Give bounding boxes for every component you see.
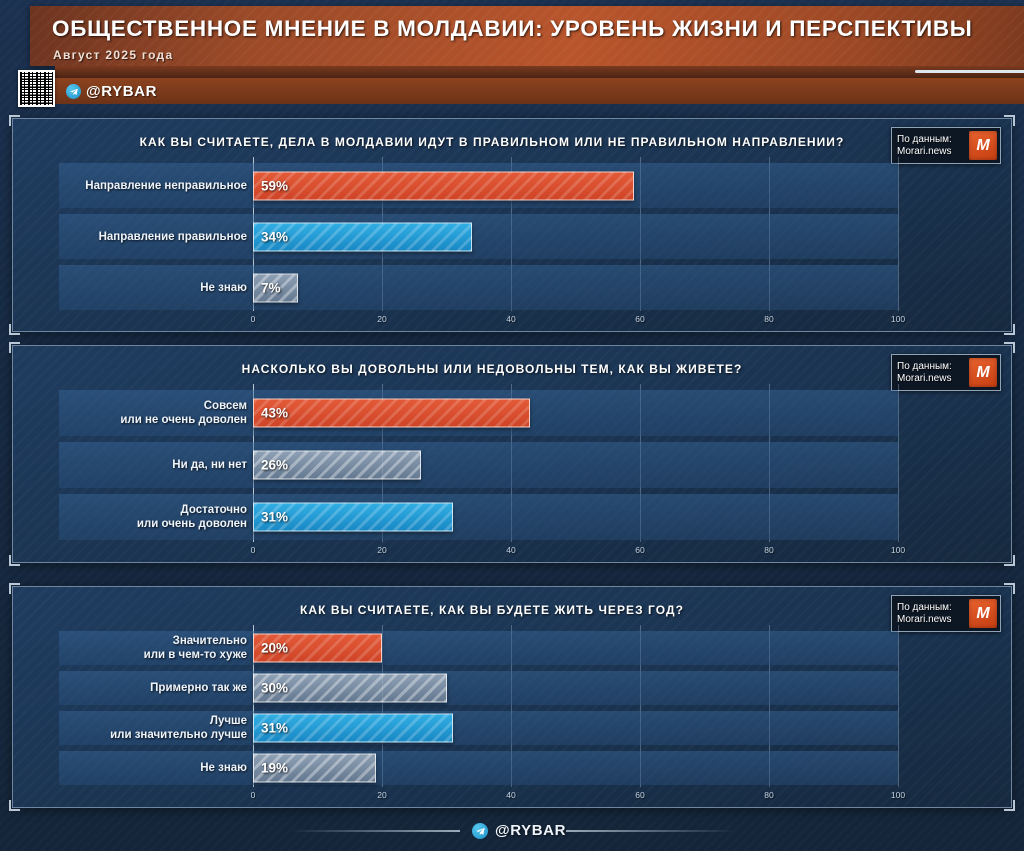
axis-tick-label: 40: [506, 314, 515, 324]
bar-category-label: Совсем или не очень доволен: [3, 399, 257, 427]
axis-tick-label: 40: [506, 545, 515, 555]
telegram-icon: [472, 823, 488, 839]
gridline: [898, 384, 899, 542]
axis-tick-label: 80: [764, 545, 773, 555]
bar-category-label: Достаточно или очень доволен: [3, 503, 257, 531]
bar-value-label: 26%: [254, 458, 288, 473]
progress-track: [915, 70, 1024, 73]
axis-tick-label: 60: [635, 314, 644, 324]
bar-value-label: 7%: [254, 280, 281, 295]
bar-category-label: Ни да, ни нет: [3, 458, 257, 472]
bar: 7%: [253, 273, 298, 302]
brand-label: @RYBAR: [86, 83, 157, 100]
axis-tick-label: 100: [891, 314, 905, 324]
bar-category-label: Лучше или значительно лучше: [3, 714, 257, 742]
axis-tick-label: 80: [764, 790, 773, 800]
bar-category-label: Не знаю: [3, 761, 257, 775]
telegram-icon: [66, 84, 81, 99]
bar-row: Примерно так же: [59, 671, 898, 705]
bar: 59%: [253, 171, 634, 200]
bar: 19%: [253, 754, 376, 783]
bar: 31%: [253, 714, 453, 743]
axis-tick-label: 40: [506, 790, 515, 800]
bar: 30%: [253, 674, 447, 703]
bar-row: Лучше или значительно лучше: [59, 711, 898, 745]
chart-area: 020406080100Совсем или не очень доволен4…: [13, 346, 1011, 562]
page-subtitle: Август 2025 года: [53, 48, 173, 62]
bar-row: Достаточно или очень доволен: [59, 494, 898, 540]
axis-tick-label: 0: [251, 545, 256, 555]
bar-value-label: 31%: [254, 721, 288, 736]
bar-category-label: Направление неправильное: [3, 179, 257, 193]
qr-code-icon: [18, 70, 55, 107]
chart-panel: НАСКОЛЬКО ВЫ ДОВОЛЬНЫ ИЛИ НЕДОВОЛЬНЫ ТЕМ…: [12, 345, 1012, 563]
axis-tick-label: 20: [377, 545, 386, 555]
bar-category-label: Не знаю: [3, 281, 257, 295]
bar: 20%: [253, 634, 382, 663]
infographic-page: ОБЩЕСТВЕННОЕ МНЕНИЕ В МОЛДАВИИ: УРОВЕНЬ …: [0, 0, 1024, 851]
chart-panel: КАК ВЫ СЧИТАЕТЕ, ДЕЛА В МОЛДАВИИ ИДУТ В …: [12, 118, 1012, 332]
bar: 34%: [253, 222, 472, 251]
chart-panel: КАК ВЫ СЧИТАЕТЕ, КАК ВЫ БУДЕТЕ ЖИТЬ ЧЕРЕ…: [12, 586, 1012, 808]
bar-value-label: 43%: [254, 406, 288, 421]
bar-row: Не знаю: [59, 265, 898, 310]
chart-area: 020406080100Направление неправильное59%Н…: [13, 119, 1011, 331]
bar-row: Направление правильное: [59, 214, 898, 259]
axis-tick-label: 80: [764, 314, 773, 324]
bar-category-label: Значительно или в чем-то хуже: [3, 634, 257, 662]
brand-bar: [55, 78, 1024, 104]
bar-value-label: 19%: [254, 761, 288, 776]
footer-brand: @RYBAR: [495, 822, 566, 839]
gridline: [898, 157, 899, 311]
chart-area: 020406080100Значительно или в чем-то хуж…: [13, 587, 1011, 807]
bar-value-label: 59%: [254, 178, 288, 193]
header-progress-strip: [55, 66, 1024, 78]
bar-value-label: 20%: [254, 641, 288, 656]
bar: 26%: [253, 451, 421, 480]
axis-tick-label: 60: [635, 545, 644, 555]
bar-value-label: 30%: [254, 681, 288, 696]
bar-value-label: 31%: [254, 510, 288, 525]
bar: 43%: [253, 399, 530, 428]
footer-divider-left: [290, 830, 460, 832]
bar-category-label: Направление правильное: [3, 230, 257, 244]
header-banner: ОБЩЕСТВЕННОЕ МНЕНИЕ В МОЛДАВИИ: УРОВЕНЬ …: [30, 6, 1024, 66]
page-title: ОБЩЕСТВЕННОЕ МНЕНИЕ В МОЛДАВИИ: УРОВЕНЬ …: [52, 16, 973, 42]
axis-tick-label: 20: [377, 314, 386, 324]
axis-tick-label: 100: [891, 545, 905, 555]
bar-category-label: Примерно так же: [3, 681, 257, 695]
axis-tick-label: 100: [891, 790, 905, 800]
bar: 31%: [253, 503, 453, 532]
axis-tick-label: 0: [251, 314, 256, 324]
bar-row: Не знаю: [59, 751, 898, 785]
axis-tick-label: 60: [635, 790, 644, 800]
footer: @RYBAR: [0, 818, 1024, 844]
bar-row: Ни да, ни нет: [59, 442, 898, 488]
bar-row: Значительно или в чем-то хуже: [59, 631, 898, 665]
gridline: [898, 625, 899, 787]
axis-tick-label: 0: [251, 790, 256, 800]
bar-value-label: 34%: [254, 229, 288, 244]
footer-divider-right: [566, 830, 736, 832]
axis-tick-label: 20: [377, 790, 386, 800]
